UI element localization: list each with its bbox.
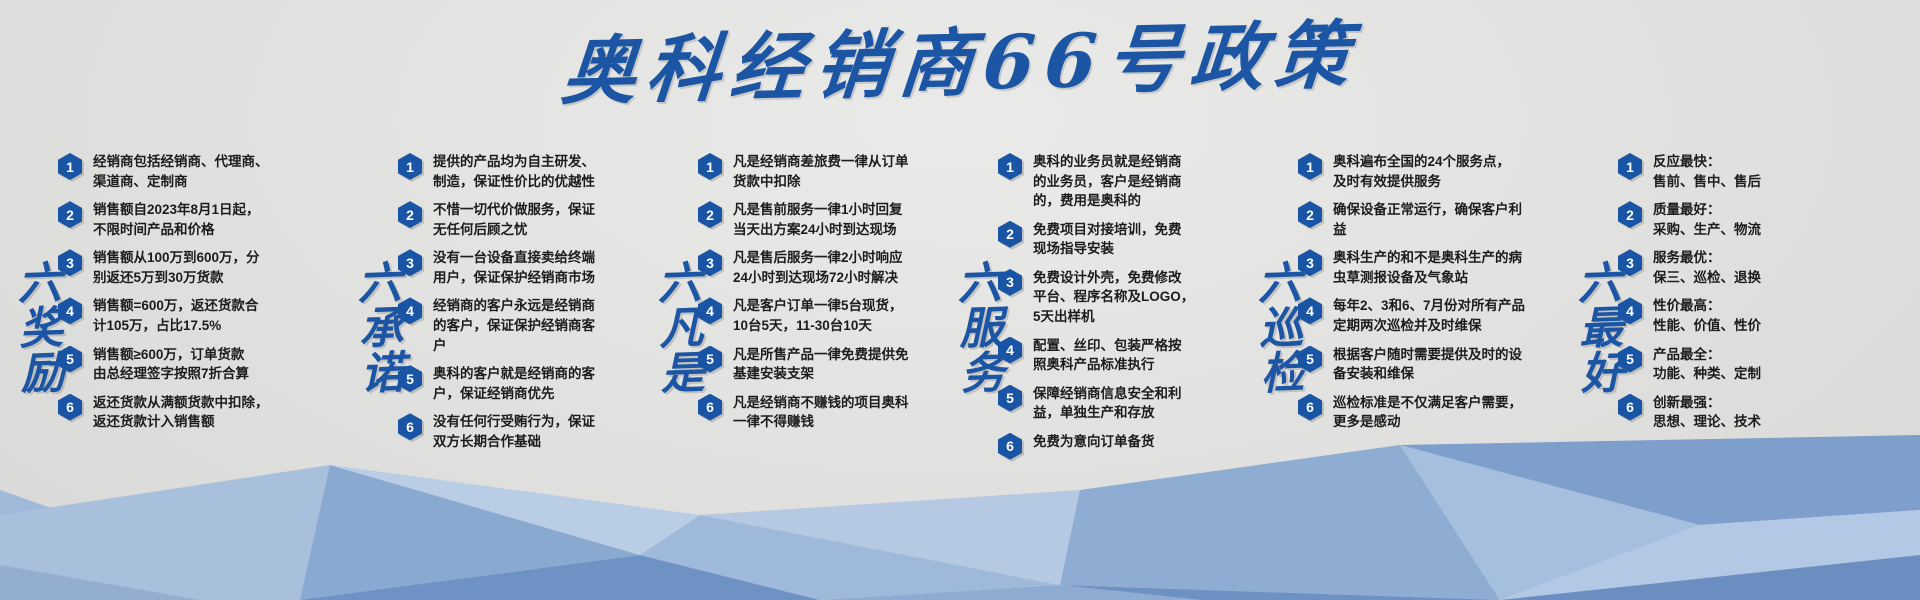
list-item[interactable]: 5 销售额≥600万，订单货款 由总经理签字按照7折合算: [58, 345, 308, 384]
item-text: 销售额=600万，返还货款合 计105万，占比17.5%: [93, 296, 258, 335]
hexagon-badge-icon: 1: [698, 153, 722, 180]
badge-number: 1: [998, 153, 1022, 180]
hexagon-badge-icon: 5: [1618, 346, 1642, 373]
item-text: 确保设备正常运行，确保客户利 益: [1333, 200, 1522, 239]
item-text: 反应最快： 售前、售中、售后: [1653, 152, 1761, 191]
list-item[interactable]: 3 奥科生产的和不是奥科生产的病 虫草测报设备及气象站: [1298, 248, 1538, 287]
banner-title: 奥科经销商66号政策: [558, 10, 1362, 119]
hexagon-badge-icon: 2: [998, 221, 1022, 248]
item-text: 巡检标准是不仅满足客户需要， 更多是感动: [1333, 393, 1522, 432]
hexagon-badge-icon: 6: [998, 433, 1022, 460]
hexagon-badge-icon: 1: [398, 153, 422, 180]
item-text: 保障经销商信息安全和利 益，单独生产和存放: [1033, 384, 1182, 423]
policy-columns: 六奖励 1 经销商包括经销商、代理商、 渠道商、定制商 2 销售额自2023年8…: [0, 142, 1920, 442]
list-item[interactable]: 6 免费为意向订单备货: [998, 432, 1213, 460]
list-item[interactable]: 3 销售额从100万到600万，分 别返还5万到30万货款: [58, 248, 308, 287]
badge-number: 6: [58, 394, 82, 421]
policy-column-5: 六巡检 1 奥科遍布全国的24个服务点， 及时有效提供服务 2 确保设备正常运行…: [1240, 142, 1560, 442]
hexagon-badge-icon: 6: [698, 394, 722, 421]
list-item[interactable]: 2 确保设备正常运行，确保客户利 益: [1298, 200, 1538, 239]
hexagon-badge-icon: 3: [398, 249, 422, 276]
hexagon-badge-icon: 4: [1298, 297, 1322, 324]
list-item[interactable]: 2 免费项目对接培训，免费 现场指导安装: [998, 220, 1213, 259]
item-text: 凡是售前服务一律1小时回复 当天出方案24小时到达现场: [733, 200, 903, 239]
badge-number: 3: [1298, 249, 1322, 276]
column-label-4: 六服务: [936, 219, 1001, 436]
list-item[interactable]: 3 凡是售后服务一律2小时响应 24小时到达现场72小时解决: [698, 248, 913, 287]
badge-number: 6: [398, 413, 422, 440]
list-item[interactable]: 3 免费设计外壳，免费修改 平台、程序名称及LOGO， 5天出样机: [998, 268, 1213, 327]
badge-number: 4: [998, 337, 1022, 364]
item-text: 销售额≥600万，订单货款 由总经理签字按照7折合算: [93, 345, 249, 384]
list-item[interactable]: 6 创新最强： 思想、理论、技术: [1618, 393, 1833, 432]
column-items-1: 1 经销商包括经销商、代理商、 渠道商、定制商 2 销售额自2023年8月1日起…: [58, 142, 308, 441]
item-text: 不惜一切代价做服务，保证 无任何后顾之忧: [433, 200, 595, 239]
badge-number: 6: [698, 394, 722, 421]
hexagon-badge-icon: 1: [1618, 153, 1642, 180]
hexagon-badge-icon: 4: [698, 297, 722, 324]
badge-number: 2: [1298, 201, 1322, 228]
hexagon-badge-icon: 3: [58, 249, 82, 276]
list-item[interactable]: 3 没有一台设备直接卖给终端 用户，保证保护经销商市场: [398, 248, 613, 287]
list-item[interactable]: 6 凡是经销商不赚钱的项目奥科 一律不得赚钱: [698, 393, 913, 432]
item-text: 每年2、3和6、7月份对所有产品 定期两次巡检并及时维保: [1333, 296, 1525, 335]
item-text: 配置、丝印、包装严格按 照奥科产品标准执行: [1033, 336, 1182, 375]
hexagon-badge-icon: 2: [698, 201, 722, 228]
policy-column-4: 六服务 1 奥科的业务员就是经销商 的业务员，客户是经销商 的，费用是奥科的 2…: [940, 142, 1240, 442]
badge-number: 4: [1618, 297, 1642, 324]
item-text: 服务最优： 保三、巡检、退换: [1653, 248, 1761, 287]
hexagon-badge-icon: 4: [58, 297, 82, 324]
list-item[interactable]: 1 反应最快： 售前、售中、售后: [1618, 152, 1833, 191]
hexagon-badge-icon: 4: [398, 297, 422, 324]
hexagon-badge-icon: 5: [998, 385, 1022, 412]
column-label-2: 六承诺: [336, 219, 401, 436]
list-item[interactable]: 1 经销商包括经销商、代理商、 渠道商、定制商: [58, 152, 308, 191]
column-items-5: 1 奥科遍布全国的24个服务点， 及时有效提供服务 2 确保设备正常运行，确保客…: [1298, 142, 1538, 441]
item-text: 凡是客户订单一律5台现货， 10台5天，11-30台10天: [733, 296, 903, 335]
policy-column-2: 六承诺 1 提供的产品均为自主研发、 制造，保证性价比的优越性 2 不惜一切代价…: [340, 142, 640, 442]
item-text: 经销商的客户永远是经销商 的客户，保证保护经销商客 户: [433, 296, 595, 355]
list-item[interactable]: 4 配置、丝印、包装严格按 照奥科产品标准执行: [998, 336, 1213, 375]
item-text: 免费设计外壳，免费修改 平台、程序名称及LOGO， 5天出样机: [1033, 268, 1194, 327]
item-text: 销售额自2023年8月1日起， 不限时间产品和价格: [93, 200, 260, 239]
hexagon-badge-icon: 6: [398, 413, 422, 440]
hexagon-badge-icon: 3: [998, 269, 1022, 296]
badge-number: 2: [998, 221, 1022, 248]
item-text: 免费为意向订单备货: [1033, 432, 1155, 452]
hexagon-badge-icon: 5: [58, 346, 82, 373]
badge-number: 5: [58, 346, 82, 373]
hexagon-badge-icon: 5: [698, 346, 722, 373]
hexagon-badge-icon: 5: [1298, 346, 1322, 373]
list-item[interactable]: 2 不惜一切代价做服务，保证 无任何后顾之忧: [398, 200, 613, 239]
badge-number: 1: [398, 153, 422, 180]
item-text: 奥科生产的和不是奥科生产的病 虫草测报设备及气象站: [1333, 248, 1522, 287]
policy-column-6: 六最好 1 反应最快： 售前、售中、售后 2 质量最好： 采购、生产、物流: [1560, 142, 1860, 442]
badge-number: 2: [58, 201, 82, 228]
list-item[interactable]: 1 奥科的业务员就是经销商 的业务员，客户是经销商 的，费用是奥科的: [998, 152, 1213, 211]
badge-number: 3: [1618, 249, 1642, 276]
badge-number: 5: [698, 346, 722, 373]
column-label-6: 六最好: [1556, 219, 1621, 436]
hexagon-badge-icon: 5: [398, 365, 422, 392]
badge-number: 5: [998, 385, 1022, 412]
list-item[interactable]: 1 提供的产品均为自主研发、 制造，保证性价比的优越性: [398, 152, 613, 191]
list-item[interactable]: 2 销售额自2023年8月1日起， 不限时间产品和价格: [58, 200, 308, 239]
badge-number: 3: [398, 249, 422, 276]
hexagon-badge-icon: 2: [398, 201, 422, 228]
badge-number: 6: [998, 433, 1022, 460]
hexagon-badge-icon: 3: [1298, 249, 1322, 276]
badge-number: 6: [1298, 394, 1322, 421]
hexagon-badge-icon: 3: [1618, 249, 1642, 276]
badge-number: 1: [1298, 153, 1322, 180]
hexagon-badge-icon: 1: [1298, 153, 1322, 180]
hexagon-badge-icon: 6: [1298, 394, 1322, 421]
policy-banner: 奥科经销商66号政策 六奖励 1 经销商包括经销商、代理商、 渠道商、定制商 2: [0, 0, 1920, 600]
list-item[interactable]: 6 返还货款从满额货款中扣除， 返还货款计入销售额: [58, 393, 308, 432]
badge-number: 4: [1298, 297, 1322, 324]
item-text: 凡是所售产品一律免费提供免 基建安装支架: [733, 345, 909, 384]
item-text: 凡是经销商差旅费一律从订单 货款中扣除: [733, 152, 909, 191]
item-text: 销售额从100万到600万，分 别返还5万到30万货款: [93, 248, 260, 287]
item-text: 奥科的业务员就是经销商 的业务员，客户是经销商 的，费用是奥科的: [1033, 152, 1182, 211]
badge-number: 5: [1618, 346, 1642, 373]
list-item[interactable]: 5 保障经销商信息安全和利 益，单独生产和存放: [998, 384, 1213, 423]
banner-title-wrap: 奥科经销商66号政策: [0, 18, 1920, 111]
column-label-1: 六奖励: [0, 219, 62, 436]
hexagon-badge-icon: 4: [1618, 297, 1642, 324]
item-text: 没有任何行受贿行为，保证 双方长期合作基础: [433, 412, 595, 451]
badge-number: 5: [398, 365, 422, 392]
item-text: 产品最全： 功能、种类、定制: [1653, 345, 1761, 384]
hexagon-badge-icon: 2: [1618, 201, 1642, 228]
list-item[interactable]: 6 巡检标准是不仅满足客户需要， 更多是感动: [1298, 393, 1538, 432]
badge-number: 1: [58, 153, 82, 180]
badge-number: 3: [698, 249, 722, 276]
item-text: 创新最强： 思想、理论、技术: [1653, 393, 1761, 432]
list-item[interactable]: 4 经销商的客户永远是经销商 的客户，保证保护经销商客 户: [398, 296, 613, 355]
hexagon-badge-icon: 2: [58, 201, 82, 228]
badge-number: 2: [1618, 201, 1642, 228]
column-items-6: 1 反应最快： 售前、售中、售后 2 质量最好： 采购、生产、物流 3: [1618, 142, 1833, 441]
badge-number: 5: [1298, 346, 1322, 373]
item-text: 凡是经销商不赚钱的项目奥科 一律不得赚钱: [733, 393, 909, 432]
item-text: 经销商包括经销商、代理商、 渠道商、定制商: [93, 152, 269, 191]
badge-number: 2: [698, 201, 722, 228]
column-label-3: 六凡是: [636, 219, 701, 436]
column-items-3: 1 凡是经销商差旅费一律从订单 货款中扣除 2 凡是售前服务一律1小时回复 当天…: [698, 142, 913, 441]
list-item[interactable]: 2 凡是售前服务一律1小时回复 当天出方案24小时到达现场: [698, 200, 913, 239]
policy-column-3: 六凡是 1 凡是经销商差旅费一律从订单 货款中扣除 2 凡是售前服务一律1小时回…: [640, 142, 940, 442]
item-text: 凡是售后服务一律2小时响应 24小时到达现场72小时解决: [733, 248, 903, 287]
list-item[interactable]: 5 凡是所售产品一律免费提供免 基建安装支架: [698, 345, 913, 384]
hexagon-badge-icon: 6: [1618, 394, 1642, 421]
hexagon-badge-icon: 2: [1298, 201, 1322, 228]
badge-number: 4: [58, 297, 82, 324]
badge-number: 4: [698, 297, 722, 324]
list-item[interactable]: 2 质量最好： 采购、生产、物流: [1618, 200, 1833, 239]
item-text: 性价最高： 性能、价值、性价: [1653, 296, 1761, 335]
hexagon-badge-icon: 1: [58, 153, 82, 180]
list-item[interactable]: 1 奥科遍布全国的24个服务点， 及时有效提供服务: [1298, 152, 1538, 191]
hexagon-badge-icon: 1: [998, 153, 1022, 180]
item-text: 免费项目对接培训，免费 现场指导安装: [1033, 220, 1182, 259]
hexagon-badge-icon: 4: [998, 337, 1022, 364]
item-text: 根据客户随时需要提供及时的设 备安装和维保: [1333, 345, 1522, 384]
list-item[interactable]: 4 销售额=600万，返还货款合 计105万，占比17.5%: [58, 296, 308, 335]
hexagon-badge-icon: 6: [58, 394, 82, 421]
list-item[interactable]: 4 凡是客户订单一律5台现货， 10台5天，11-30台10天: [698, 296, 913, 335]
column-label-5: 六巡检: [1236, 219, 1301, 436]
list-item[interactable]: 6 没有任何行受贿行为，保证 双方长期合作基础: [398, 412, 613, 451]
item-text: 奥科遍布全国的24个服务点， 及时有效提供服务: [1333, 152, 1510, 191]
list-item[interactable]: 1 凡是经销商差旅费一律从订单 货款中扣除: [698, 152, 913, 191]
list-item[interactable]: 4 每年2、3和6、7月份对所有产品 定期两次巡检并及时维保: [1298, 296, 1538, 335]
badge-number: 1: [698, 153, 722, 180]
badge-number: 6: [1618, 394, 1642, 421]
hexagon-badge-icon: 3: [698, 249, 722, 276]
badge-number: 3: [998, 269, 1022, 296]
badge-number: 1: [1618, 153, 1642, 180]
item-text: 返还货款从满额货款中扣除， 返还货款计入销售额: [93, 393, 269, 432]
badge-number: 2: [398, 201, 422, 228]
item-text: 提供的产品均为自主研发、 制造，保证性价比的优越性: [433, 152, 595, 191]
badge-number: 4: [398, 297, 422, 324]
column-items-4: 1 奥科的业务员就是经销商 的业务员，客户是经销商 的，费用是奥科的 2 免费项…: [998, 142, 1213, 469]
policy-column-1: 六奖励 1 经销商包括经销商、代理商、 渠道商、定制商 2 销售额自2023年8…: [0, 142, 340, 442]
item-text: 质量最好： 采购、生产、物流: [1653, 200, 1761, 239]
list-item[interactable]: 5 产品最全： 功能、种类、定制: [1618, 345, 1833, 384]
list-item[interactable]: 4 性价最高： 性能、价值、性价: [1618, 296, 1833, 335]
item-text: 奥科的客户就是经销商的客 户，保证经销商优先: [433, 364, 595, 403]
column-items-2: 1 提供的产品均为自主研发、 制造，保证性价比的优越性 2 不惜一切代价做服务，…: [398, 142, 613, 460]
list-item[interactable]: 3 服务最优： 保三、巡检、退换: [1618, 248, 1833, 287]
item-text: 没有一台设备直接卖给终端 用户，保证保护经销商市场: [433, 248, 595, 287]
badge-number: 3: [58, 249, 82, 276]
list-item[interactable]: 5 根据客户随时需要提供及时的设 备安装和维保: [1298, 345, 1538, 384]
list-item[interactable]: 5 奥科的客户就是经销商的客 户，保证经销商优先: [398, 364, 613, 403]
